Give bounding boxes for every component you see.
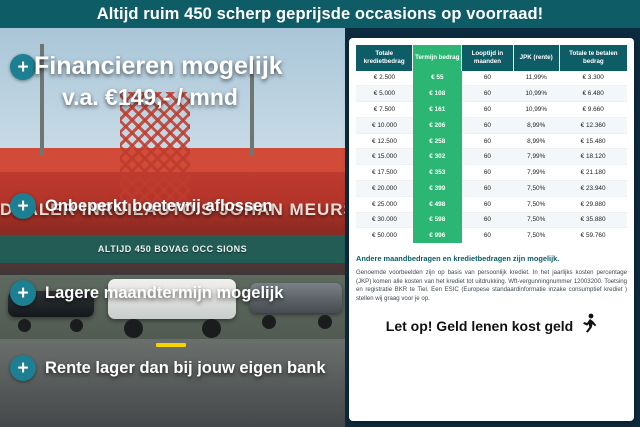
cell-total: € 3.300 — [559, 71, 627, 86]
banner-text: Altijd ruim 450 scherp geprijsde occasio… — [97, 5, 544, 24]
cell-rate: 10,99% — [513, 86, 559, 102]
cell-months: 60 — [462, 102, 513, 118]
table-row: € 12.500 € 258 60 8,99% € 15.480 — [356, 133, 627, 149]
promo-overlay: + Financieren mogelijk v.a. €149,- / mnd… — [0, 28, 345, 427]
table-header-row: Totale kredietbedrag Termijn bedrag Loop… — [356, 45, 627, 71]
cell-credit: € 10.000 — [356, 117, 413, 133]
cell-credit: € 50.000 — [356, 228, 413, 243]
plus-icon: + — [10, 193, 36, 219]
cell-total: € 21.180 — [559, 165, 627, 181]
table-row: € 17.500 € 353 60 7,99% € 21.180 — [356, 165, 627, 181]
bullet-label-3: Rente lager dan bij jouw eigen bank — [45, 359, 326, 378]
cell-term: € 258 — [413, 133, 462, 149]
cell-credit: € 17.500 — [356, 165, 413, 181]
notes-body: Genoemde voorbeelden zijn op basis van p… — [356, 269, 627, 304]
table-row: € 2.500 € 55 60 11,99% € 3.300 — [356, 71, 627, 86]
table-header-cell: Looptijd in maanden — [462, 45, 513, 71]
top-banner: Altijd ruim 450 scherp geprijsde occasio… — [0, 0, 640, 28]
bullet-financing-plus: + — [10, 54, 36, 80]
cell-months: 60 — [462, 133, 513, 149]
table-row: € 15.000 € 302 60 7,99% € 18.120 — [356, 149, 627, 165]
cell-credit: € 15.000 — [356, 149, 413, 165]
bullet-item-2: + Lagere maandtermijn mogelijk — [10, 280, 283, 306]
cell-months: 60 — [462, 228, 513, 243]
table-row: € 30.000 € 598 60 7,50% € 35.880 — [356, 212, 627, 228]
cell-term: € 55 — [413, 71, 462, 86]
cell-credit: € 12.500 — [356, 133, 413, 149]
table-header-cell: JPK (rente) — [513, 45, 559, 71]
table-row: € 50.000 € 996 60 7,50% € 59.760 — [356, 228, 627, 243]
cell-months: 60 — [462, 149, 513, 165]
plus-icon: + — [10, 280, 36, 306]
cell-rate: 8,99% — [513, 133, 559, 149]
cell-rate: 7,50% — [513, 196, 559, 212]
cell-term: € 598 — [413, 212, 462, 228]
cell-rate: 7,99% — [513, 149, 559, 165]
cell-total: € 15.480 — [559, 133, 627, 149]
table-row: € 25.000 € 498 60 7,50% € 29.880 — [356, 196, 627, 212]
cell-credit: € 2.500 — [356, 71, 413, 86]
bullet-label-1: Onbeperkt boetevrij aflossen — [45, 197, 272, 216]
cell-credit: € 7.500 — [356, 102, 413, 118]
cell-term: € 206 — [413, 117, 462, 133]
cell-total: € 9.660 — [559, 102, 627, 118]
cell-months: 60 — [462, 212, 513, 228]
cell-rate: 8,99% — [513, 117, 559, 133]
warning-text: Let op! Geld lenen kost geld — [386, 318, 573, 334]
notes-title: Andere maandbedragen en kredietbedragen … — [356, 254, 627, 264]
warning-row: Let op! Geld lenen kost geld — [356, 313, 627, 338]
rates-table-body: € 2.500 € 55 60 11,99% € 3.300 € 5.000 €… — [356, 71, 627, 244]
table-row: € 20.000 € 399 60 7,50% € 23.940 — [356, 180, 627, 196]
cell-rate: 7,50% — [513, 228, 559, 243]
plus-icon: + — [10, 355, 36, 381]
cell-months: 60 — [462, 71, 513, 86]
cell-term: € 498 — [413, 196, 462, 212]
cell-credit: € 25.000 — [356, 196, 413, 212]
cell-rate: 7,99% — [513, 165, 559, 181]
cell-months: 60 — [462, 117, 513, 133]
headline: Financieren mogelijk — [34, 52, 334, 80]
table-row: € 10.000 € 206 60 8,99% € 12.360 — [356, 117, 627, 133]
cell-credit: € 5.000 — [356, 86, 413, 102]
rates-table: Totale kredietbedrag Termijn bedrag Loop… — [356, 45, 627, 243]
running-person-icon — [581, 313, 597, 338]
cell-months: 60 — [462, 165, 513, 181]
cell-months: 60 — [462, 196, 513, 212]
table-row: € 7.500 € 161 60 10,99% € 9.660 — [356, 102, 627, 118]
cell-term: € 302 — [413, 149, 462, 165]
table-header-cell: Totale kredietbedrag — [356, 45, 413, 71]
cell-total: € 59.760 — [559, 228, 627, 243]
cell-credit: € 30.000 — [356, 212, 413, 228]
subheadline: v.a. €149,- / mnd — [62, 84, 342, 111]
bullet-item-3: + Rente lager dan bij jouw eigen bank — [10, 355, 326, 381]
cell-months: 60 — [462, 86, 513, 102]
cell-total: € 23.940 — [559, 180, 627, 196]
table-header-cell: Totale te betalen bedrag — [559, 45, 627, 71]
cell-rate: 7,50% — [513, 212, 559, 228]
rates-card: Totale kredietbedrag Termijn bedrag Loop… — [349, 38, 634, 421]
cell-term: € 996 — [413, 228, 462, 243]
cell-rate: 7,50% — [513, 180, 559, 196]
cell-total: € 12.360 — [559, 117, 627, 133]
cell-total: € 35.880 — [559, 212, 627, 228]
table-header-cell-highlight: Termijn bedrag — [413, 45, 462, 71]
cell-term: € 399 — [413, 180, 462, 196]
cell-total: € 29.880 — [559, 196, 627, 212]
table-row: € 5.000 € 108 60 10,99% € 6.480 — [356, 86, 627, 102]
cell-term: € 353 — [413, 165, 462, 181]
cell-months: 60 — [462, 180, 513, 196]
cell-total: € 6.480 — [559, 86, 627, 102]
cell-rate: 11,99% — [513, 71, 559, 86]
cell-total: € 18.120 — [559, 149, 627, 165]
cell-term: € 108 — [413, 86, 462, 102]
bullet-label-2: Lagere maandtermijn mogelijk — [45, 284, 283, 303]
plus-icon: + — [10, 54, 36, 80]
bullet-item-1: + Onbeperkt boetevrij aflossen — [10, 193, 272, 219]
cell-credit: € 20.000 — [356, 180, 413, 196]
cell-term: € 161 — [413, 102, 462, 118]
cell-rate: 10,99% — [513, 102, 559, 118]
